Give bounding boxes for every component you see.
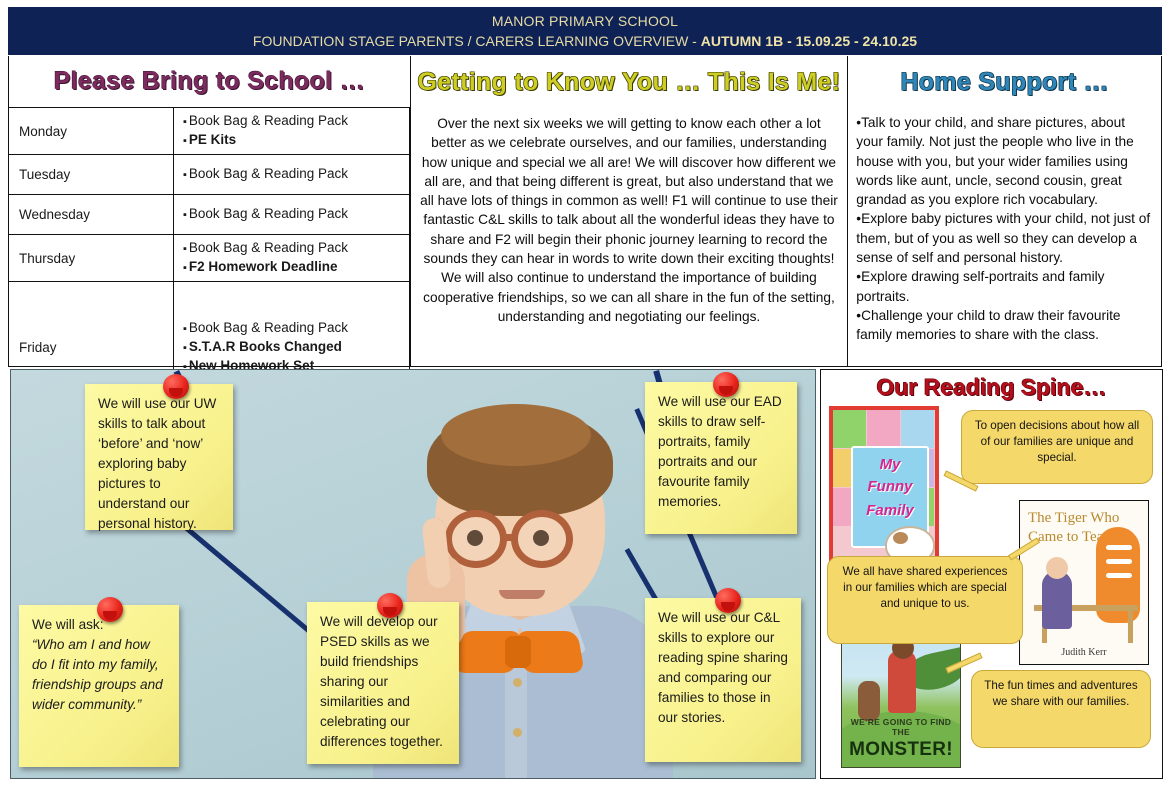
table-row: WednesdayBook Bag & Reading Pack: [9, 195, 409, 235]
boy-shirt-button: [513, 728, 522, 737]
column-header-please-bring: Please Bring to School …: [9, 56, 410, 108]
overview-grid: Please Bring to School … MondayBook Bag …: [8, 56, 1162, 367]
home-support-item: Explore drawing self-portraits and famil…: [856, 267, 1153, 306]
schedule-item: Book Bag & Reading Pack: [183, 239, 403, 258]
banner-subtitle-prefix: FOUNDATION STAGE PARENTS / CARERS LEARNI…: [253, 33, 701, 49]
book-title-line2: MONSTER!: [842, 739, 960, 761]
sticky-note-cl-text: We will use our C&L skills to explore ou…: [658, 610, 788, 725]
weekly-schedule-body: MondayBook Bag & Reading PackPE KitsTues…: [9, 108, 409, 412]
sticky-note-psed-text: We will develop our PSED skills as we bu…: [320, 614, 443, 749]
schedule-item: S.T.A.R Books Changed: [183, 338, 403, 357]
book-title-line3: Family: [853, 502, 927, 519]
classroom-photo-panel: We will use our UW skills to talk about …: [10, 369, 816, 779]
bow-tie-knot: [505, 636, 531, 668]
push-pin-icon: [97, 597, 123, 622]
push-pin-icon: [713, 372, 739, 397]
book-cover-my-funny-family: My Funny Family: [829, 406, 939, 566]
child-illustration: [888, 651, 916, 713]
sticky-note-ask-quote: “Who am I and how do I fit into my famil…: [32, 635, 168, 715]
boy-mouth: [499, 590, 545, 599]
girl-head: [1046, 557, 1068, 579]
column-header-home-support: Home Support …: [848, 56, 1161, 108]
schedule-items-cell: Book Bag & Reading PackF2 Homework Deadl…: [174, 235, 410, 282]
table-row: MondayBook Bag & Reading PackPE Kits: [9, 108, 409, 155]
learning-overview-page: MANOR PRIMARY SCHOOL FOUNDATION STAGE PA…: [0, 0, 1170, 785]
column-home-support: Home Support … Talk to your child, and s…: [848, 56, 1161, 366]
schedule-item: Book Bag & Reading Pack: [183, 205, 403, 224]
push-pin-icon: [163, 374, 189, 399]
cover-panel: [867, 410, 900, 448]
getting-to-know-you-title: Getting to Know You … This Is Me!: [418, 68, 841, 97]
tiger-stripe: [1106, 545, 1132, 550]
table-row: ThursdayBook Bag & Reading PackF2 Homewo…: [9, 235, 409, 282]
column-please-bring: Please Bring to School … MondayBook Bag …: [9, 56, 411, 366]
dog-spot: [893, 532, 908, 544]
home-support-item: Talk to your child, and share pictures, …: [856, 113, 1153, 209]
schedule-item: Book Bag & Reading Pack: [183, 165, 403, 184]
speech-bubble-unique-text: To open decisions about how all of our f…: [975, 419, 1139, 464]
push-pin-icon: [377, 593, 403, 618]
sticky-note-uw: We will use our UW skills to talk about …: [85, 384, 233, 530]
schedule-item: PE Kits: [183, 131, 403, 150]
speech-bubble-fun-times: The fun times and adventures we share wi…: [971, 670, 1151, 748]
speech-bubble-fun-times-text: The fun times and adventures we share wi…: [984, 679, 1137, 708]
book-title-line2: Funny: [853, 478, 927, 495]
speech-bubble-shared-text: We all have shared experiences in our fa…: [843, 565, 1008, 610]
schedule-day-cell: Monday: [9, 108, 174, 155]
schedule-day-cell: Thursday: [9, 235, 174, 282]
sticky-note-ask: We will ask: “Who am I and how do I fit …: [19, 605, 179, 767]
table-row: TuesdayBook Bag & Reading Pack: [9, 155, 409, 195]
weekly-schedule-table: MondayBook Bag & Reading PackPE KitsTues…: [9, 108, 410, 412]
sticky-note-cl: We will use our C&L skills to explore ou…: [645, 598, 801, 762]
banner-subtitle: FOUNDATION STAGE PARENTS / CARERS LEARNI…: [253, 32, 917, 50]
please-bring-title: Please Bring to School …: [54, 67, 365, 96]
schedule-items-cell: Book Bag & Reading Pack: [174, 195, 410, 235]
tiger-stripe: [1106, 573, 1132, 578]
page-banner: MANOR PRIMARY SCHOOL FOUNDATION STAGE PA…: [8, 7, 1162, 55]
boy-shirt-button: [513, 678, 522, 687]
book-author: Judith Kerr: [1020, 647, 1148, 658]
schedule-day-cell: Wednesday: [9, 195, 174, 235]
schedule-item: Book Bag & Reading Pack: [183, 112, 403, 131]
speech-bubble-shared: We all have shared experiences in our fa…: [827, 556, 1023, 644]
push-pin-icon: [715, 588, 741, 613]
sticky-note-ead-text: We will use our EAD skills to draw self-…: [658, 394, 782, 509]
home-support-item: Explore baby pictures with your child, n…: [856, 209, 1153, 267]
sticky-note-psed: We will develop our PSED skills as we bu…: [307, 602, 459, 764]
school-name: MANOR PRIMARY SCHOOL: [492, 12, 678, 30]
cover-panel: [901, 410, 934, 448]
banner-term-dates: AUTUMN 1B - 15.09.25 - 24.10.25: [701, 33, 917, 49]
column-getting-to-know-you: Getting to Know You … This Is Me! Over t…: [411, 56, 849, 366]
column-header-getting-to-know-you: Getting to Know You … This Is Me!: [411, 56, 848, 108]
schedule-items-cell: Book Bag & Reading PackPE Kits: [174, 108, 410, 155]
book-title-line1: WE’RE GOING TO FIND THE: [842, 717, 960, 737]
overview-paragraph: Over the next six weeks we will getting …: [411, 108, 848, 326]
home-support-title: Home Support …: [900, 68, 1108, 97]
reading-spine-title: Our Reading Spine…: [821, 374, 1162, 401]
sticky-note-uw-text: We will use our UW skills to talk about …: [98, 396, 216, 531]
small-child-illustration: [858, 681, 880, 721]
home-support-list: Talk to your child, and share pictures, …: [848, 108, 1161, 345]
tiger-stripe: [1106, 559, 1132, 564]
reading-spine-panel: Our Reading Spine… My Funny Family The T…: [820, 369, 1163, 779]
schedule-item: Book Bag & Reading Pack: [183, 319, 403, 338]
book-cover-the-tiger-who-came-to-tea: The Tiger Who Came to Tea Judith Kerr: [1019, 500, 1149, 665]
schedule-items-cell: Book Bag & Reading Pack: [174, 155, 410, 195]
schedule-item: F2 Homework Deadline: [183, 258, 403, 277]
glasses-bridge: [505, 534, 515, 541]
speech-bubble-unique: To open decisions about how all of our f…: [961, 410, 1153, 484]
sticky-note-ead: We will use our EAD skills to draw self-…: [645, 382, 797, 534]
glasses-lens-right: [511, 510, 573, 568]
table-leg: [1128, 611, 1133, 643]
home-support-item: Challenge your child to draw their favou…: [856, 306, 1153, 345]
cover-panel: [833, 410, 866, 448]
schedule-day-cell: Tuesday: [9, 155, 174, 195]
boy-hair-highlight: [441, 404, 591, 466]
girl-illustration: [1042, 571, 1072, 629]
book-title-line1: My: [853, 456, 927, 473]
